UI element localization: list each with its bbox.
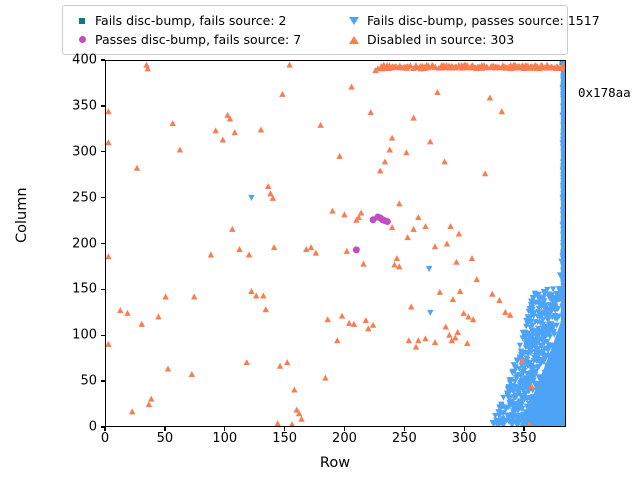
data-point <box>427 310 433 316</box>
scatter-points-layer <box>106 61 565 426</box>
figure-canvas: Fails disc-bump, fails source: 2 Fails d… <box>0 0 640 480</box>
data-point <box>382 158 388 164</box>
circle-marker-icon <box>69 36 95 43</box>
data-point <box>248 195 254 201</box>
data-point <box>329 208 335 214</box>
data-point <box>460 310 466 316</box>
data-point <box>367 109 373 115</box>
y-tick-label: 50 <box>53 375 97 388</box>
x-tick-label: 150 <box>272 432 297 445</box>
data-point <box>437 289 443 295</box>
data-point <box>377 167 383 173</box>
legend-label-disabled: Disabled in source: 303 <box>367 30 514 49</box>
data-point <box>143 62 149 68</box>
y-tick-mark <box>101 243 105 244</box>
data-point <box>162 293 168 299</box>
x-tick-label: 300 <box>452 432 477 445</box>
legend-grid: Fails disc-bump, fails source: 2 Fails d… <box>69 11 559 49</box>
y-tick-mark <box>101 335 105 336</box>
data-point <box>265 183 271 189</box>
data-point <box>208 251 214 257</box>
data-point <box>165 365 171 371</box>
data-point <box>410 226 416 232</box>
data-point <box>258 126 264 132</box>
data-point <box>308 244 314 250</box>
data-point <box>450 296 456 302</box>
data-point <box>452 334 458 340</box>
data-point <box>191 293 197 299</box>
data-point <box>286 62 292 68</box>
data-point <box>396 200 402 206</box>
chip-id-annotation: 0x178aa <box>578 85 631 100</box>
legend-entry-disabled[interactable]: Disabled in source: 303 <box>341 30 600 49</box>
x-tick-label: 200 <box>332 432 357 445</box>
data-point <box>426 266 432 272</box>
data-point <box>455 329 461 335</box>
data-point <box>313 250 319 256</box>
data-point <box>360 261 366 267</box>
data-point <box>446 332 452 338</box>
data-point <box>106 108 112 114</box>
data-point <box>325 316 331 322</box>
data-point <box>341 211 347 217</box>
data-point <box>413 344 419 350</box>
data-point <box>384 218 391 225</box>
data-point <box>148 396 154 402</box>
data-point <box>139 321 145 327</box>
data-point <box>453 259 459 265</box>
plot-area[interactable] <box>105 60 566 427</box>
data-point <box>427 138 433 144</box>
x-tick-label: 100 <box>212 432 237 445</box>
data-point <box>415 337 421 343</box>
data-point <box>260 292 266 298</box>
series-group-2 <box>248 61 565 426</box>
data-point <box>243 359 249 365</box>
data-point <box>465 313 471 319</box>
data-point <box>434 89 440 95</box>
y-tick-label: 100 <box>53 329 97 342</box>
y-tick-label: 0 <box>53 421 97 434</box>
legend-label-fails-fails: Fails disc-bump, fails source: 2 <box>95 11 287 30</box>
y-tick-mark <box>101 289 105 290</box>
y-tick-label: 350 <box>53 99 97 112</box>
data-point <box>344 248 350 254</box>
x-tick-label: 0 <box>101 432 109 445</box>
data-point <box>415 214 421 220</box>
data-point <box>106 253 112 259</box>
data-point <box>322 375 328 381</box>
y-tick-mark <box>101 380 105 381</box>
data-point <box>189 371 195 377</box>
y-axis-label: Column <box>14 187 30 243</box>
data-point <box>487 94 493 100</box>
data-point <box>334 337 340 343</box>
data-point <box>284 359 290 365</box>
data-point <box>389 135 395 141</box>
series-group-3 <box>106 62 565 426</box>
y-tick-label: 300 <box>53 145 97 158</box>
data-point <box>246 251 252 257</box>
data-point <box>271 244 277 250</box>
y-tick-label: 200 <box>53 237 97 250</box>
square-marker-icon <box>69 18 95 24</box>
data-point <box>469 255 475 261</box>
x-tick-label: 50 <box>157 432 174 445</box>
data-point <box>517 343 523 349</box>
data-point <box>351 321 357 327</box>
y-tick-mark <box>101 197 105 198</box>
legend-entry-fails-passes[interactable]: Fails disc-bump, passes source: 1517 <box>341 11 600 30</box>
data-point <box>353 246 360 253</box>
data-point <box>279 91 285 97</box>
data-point <box>155 313 161 319</box>
data-point <box>394 255 400 261</box>
x-axis-label: Row <box>320 455 350 471</box>
data-point <box>457 288 463 294</box>
data-point <box>406 337 412 343</box>
data-point <box>236 246 242 252</box>
data-point <box>358 209 364 215</box>
data-point <box>232 129 238 135</box>
data-point <box>432 243 438 249</box>
x-tick-label: 350 <box>512 432 537 445</box>
data-point <box>346 320 352 326</box>
triangle-down-marker-icon <box>341 17 367 25</box>
data-point <box>482 170 488 176</box>
data-point <box>274 420 280 426</box>
data-point <box>317 122 323 128</box>
legend-entry-passes-fails[interactable]: Passes disc-bump, fails source: 7 <box>69 30 341 49</box>
legend-label-fails-passes: Fails disc-bump, passes source: 1517 <box>367 11 600 30</box>
data-point <box>408 303 414 309</box>
data-point <box>339 313 345 319</box>
data-point <box>336 153 342 159</box>
data-point <box>387 146 393 152</box>
data-point <box>432 339 438 345</box>
y-tick-label: 150 <box>53 283 97 296</box>
y-tick-label: 250 <box>53 191 97 204</box>
data-point <box>248 288 254 294</box>
data-point <box>277 363 283 369</box>
data-point <box>456 230 462 236</box>
data-point <box>443 324 449 330</box>
data-point <box>298 416 304 422</box>
data-point <box>489 291 495 297</box>
data-point <box>496 297 502 303</box>
data-point <box>117 307 123 313</box>
data-point <box>146 401 152 407</box>
data-point <box>263 306 269 312</box>
legend-entry-fails-fails[interactable]: Fails disc-bump, fails source: 2 <box>69 11 341 30</box>
data-point <box>500 395 506 401</box>
chart-legend: Fails disc-bump, fails source: 2 Fails d… <box>62 5 568 55</box>
triangle-up-marker-icon <box>341 36 367 44</box>
data-point <box>444 240 450 246</box>
data-point <box>129 408 135 414</box>
y-tick-mark <box>101 105 105 106</box>
data-point <box>389 224 395 230</box>
data-point <box>391 261 397 267</box>
data-point <box>410 115 416 121</box>
data-point <box>289 421 295 426</box>
data-point <box>365 325 371 331</box>
legend-label-passes-fails: Passes disc-bump, fails source: 7 <box>95 30 301 49</box>
y-tick-mark <box>101 151 105 152</box>
data-point <box>106 341 112 347</box>
data-point <box>348 84 354 90</box>
data-point <box>170 120 176 126</box>
data-point <box>422 223 428 229</box>
data-point <box>441 158 447 164</box>
data-point <box>212 127 218 133</box>
data-point <box>370 322 376 328</box>
data-point <box>106 139 112 145</box>
data-point <box>404 234 410 240</box>
data-point <box>124 310 130 316</box>
data-point <box>499 108 505 114</box>
y-tick-label: 400 <box>53 54 97 67</box>
data-point <box>403 149 409 155</box>
data-point <box>134 165 140 171</box>
data-point <box>229 226 235 232</box>
data-point <box>464 340 470 346</box>
data-point <box>502 309 508 315</box>
data-point <box>422 335 428 341</box>
data-point <box>291 386 297 392</box>
x-tick-label: 250 <box>392 432 417 445</box>
data-point <box>447 223 453 229</box>
data-point <box>363 317 369 323</box>
y-tick-mark <box>101 59 105 60</box>
data-point <box>177 146 183 152</box>
data-point <box>220 136 226 142</box>
data-point <box>474 276 480 282</box>
